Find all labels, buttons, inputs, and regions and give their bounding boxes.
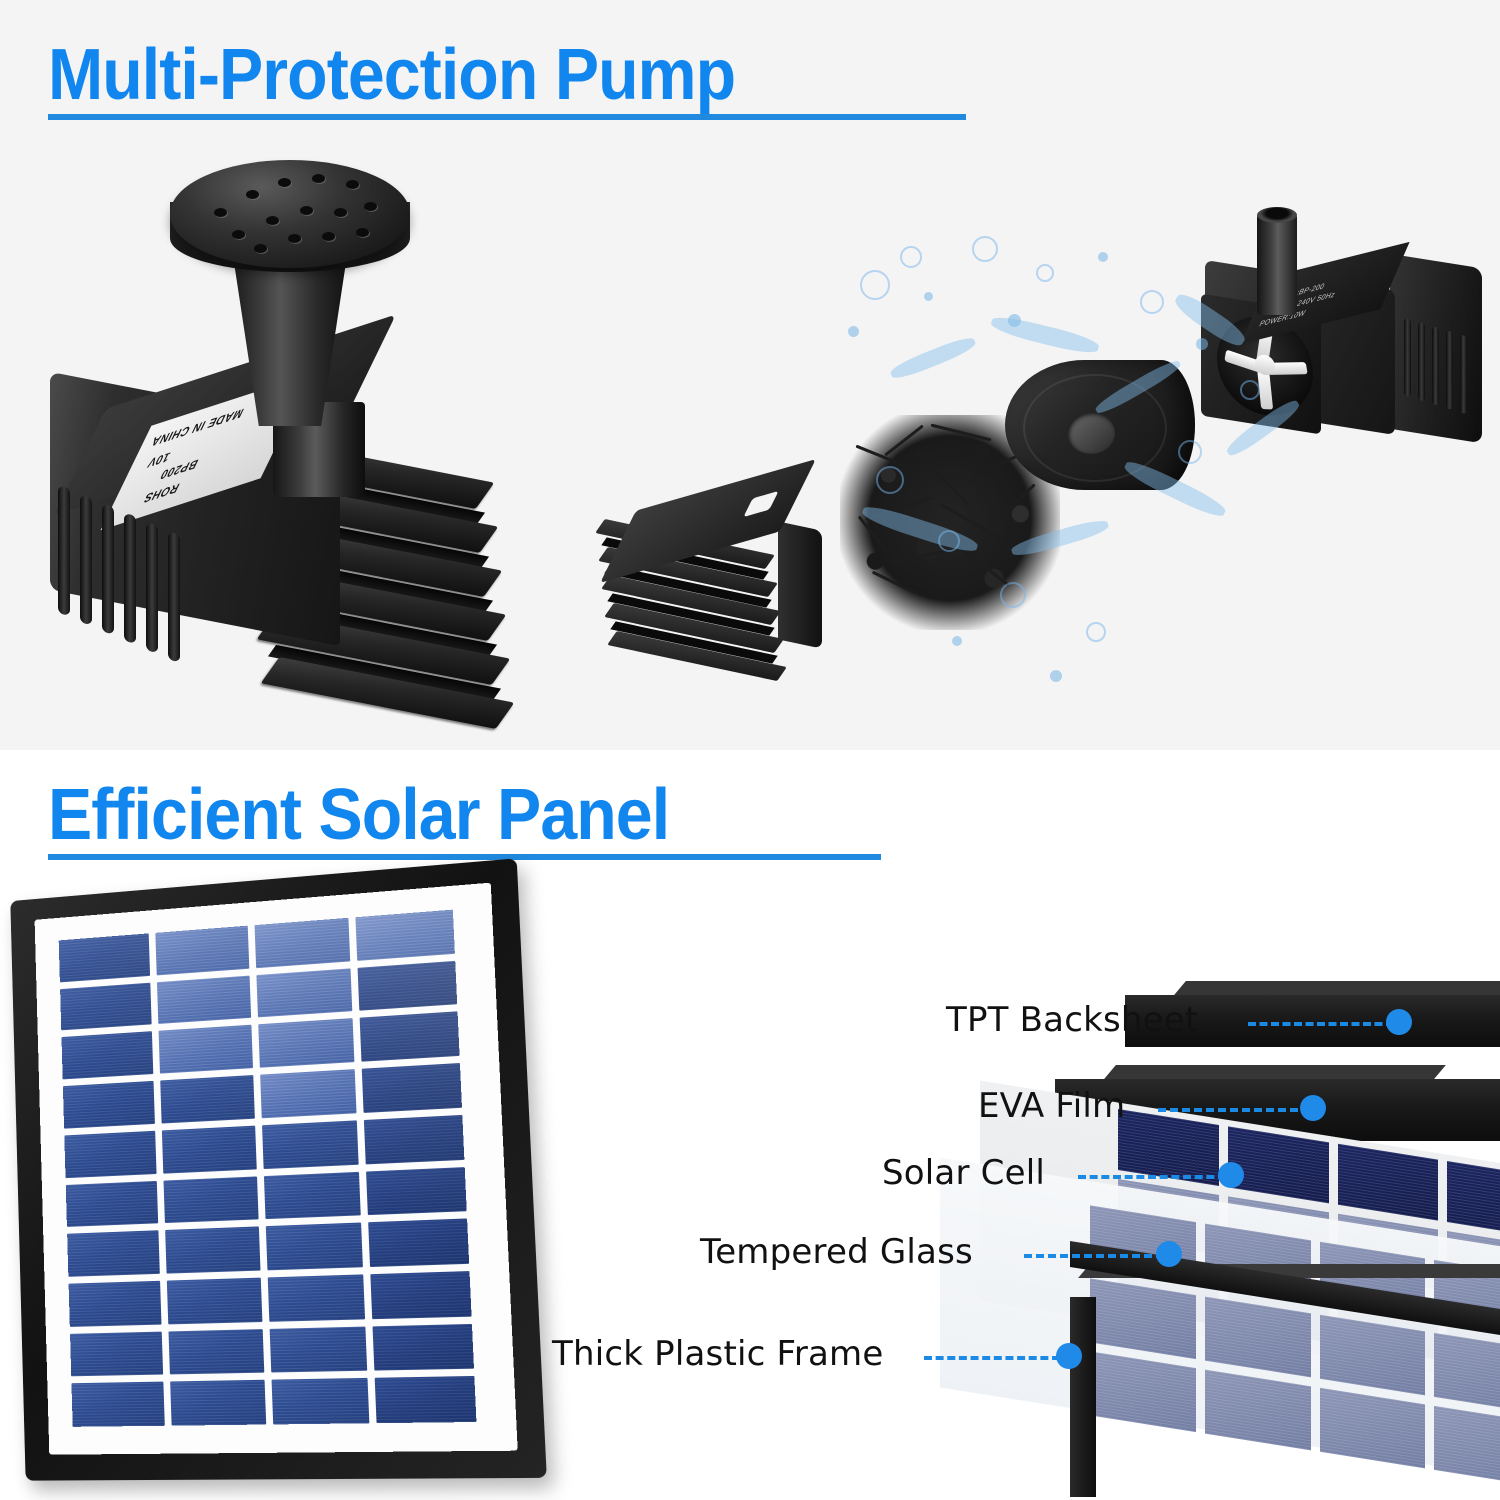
solar-heading-rule xyxy=(48,854,881,860)
callout-dot-thick-plastic-frame xyxy=(1056,1343,1082,1369)
callout-label-thick-plastic-frame: Thick Plastic Frame xyxy=(552,1334,883,1374)
callout-tempered-glass: Tempered Glass xyxy=(700,1232,973,1272)
exploded-panel-layers xyxy=(1000,975,1500,1500)
cage-side xyxy=(778,521,822,648)
motor-pump-illustration: CE MODEL:BP-200 AC 220V-240V 50Hz POWER:… xyxy=(1195,205,1495,505)
assembled-pump-illustration: MADE IN CHINA 10V BP200 ROHS xyxy=(40,150,560,730)
plastic-frame-leg xyxy=(1070,1297,1096,1497)
outlet-tube-opening xyxy=(1257,207,1297,223)
callout-dash-solar-cell xyxy=(1078,1175,1226,1179)
callout-dash-tempered-glass xyxy=(1024,1254,1164,1258)
eva-film-top xyxy=(1104,1065,1446,1079)
callout-dash-thick-plastic-frame xyxy=(924,1356,1060,1360)
callout-eva-film: EVA Film xyxy=(978,1086,1125,1126)
callout-thick-plastic-frame: Thick Plastic Frame xyxy=(552,1334,883,1374)
product-infographic: Multi-Protection Pump MADE IN CHINA 10V … xyxy=(0,0,1500,1500)
pump-section-heading: Multi-Protection Pump xyxy=(48,34,735,116)
pump-heading-rule xyxy=(48,114,966,120)
callout-dash-tpt-backsheet xyxy=(1248,1022,1394,1026)
callout-label-tempered-glass: Tempered Glass xyxy=(700,1232,973,1272)
callout-dot-eva-film xyxy=(1300,1095,1326,1121)
impeller-cover-icon xyxy=(1005,360,1205,510)
fountain-nozzle-icon xyxy=(170,160,410,268)
callout-dot-solar-cell xyxy=(1218,1162,1244,1188)
tpt-backsheet-top xyxy=(1174,981,1500,995)
callout-label-solar-cell: Solar Cell xyxy=(882,1153,1045,1193)
solar-section-heading: Efficient Solar Panel xyxy=(48,774,669,856)
callout-solar-cell: Solar Cell xyxy=(882,1153,1045,1193)
callout-tpt-backsheet: TPT Backsheet xyxy=(946,1000,1198,1040)
callout-label-eva-film: EVA Film xyxy=(978,1086,1125,1126)
solar-cell-grid xyxy=(59,910,477,1427)
callout-dot-tpt-backsheet xyxy=(1386,1009,1412,1035)
solar-panel-icon xyxy=(0,865,539,1488)
outlet-tube xyxy=(1257,210,1297,315)
callout-dash-eva-film xyxy=(1158,1108,1310,1112)
motor-rear-cap xyxy=(1390,254,1482,444)
pump-side-ribs xyxy=(58,485,208,664)
filter-cage-illustration xyxy=(600,490,860,720)
callout-label-tpt-backsheet: TPT Backsheet xyxy=(946,1000,1198,1040)
callout-dot-tempered-glass xyxy=(1156,1241,1182,1267)
